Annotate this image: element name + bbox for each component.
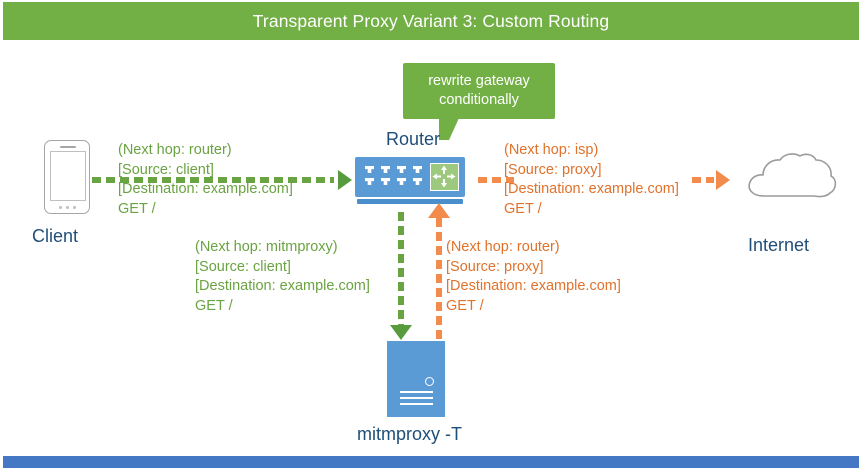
- callout-bubble: rewrite gateway conditionally: [403, 63, 555, 119]
- flow-arrowhead-router-to-internet: [716, 170, 730, 190]
- packet-line: GET /: [195, 297, 370, 317]
- node-label-mitmproxy: mitmproxy -T: [357, 424, 462, 445]
- callout-line-2: conditionally: [439, 91, 519, 110]
- footer-bar: [3, 456, 859, 468]
- flow-arrowhead-client-to-router: [338, 170, 352, 190]
- packet-line: [Source: client]: [118, 161, 293, 181]
- flow-line-router-to-proxy: [398, 212, 404, 325]
- mobile-phone-icon: [44, 140, 94, 218]
- diagram-canvas: Transparent Proxy Variant 3: Custom Rout…: [0, 0, 862, 473]
- packet-line: [Destination: example.com]: [446, 277, 621, 297]
- packet-router-to-proxy: (Next hop: mitmproxy) [Source: client] […: [195, 238, 370, 316]
- phone-body: [44, 140, 90, 214]
- callout-line-1: rewrite gateway: [428, 72, 530, 91]
- packet-line: (Next hop: mitmproxy): [195, 238, 370, 258]
- server-body: [387, 341, 445, 417]
- router-icon: [355, 157, 469, 209]
- packet-line: (Next hop: router): [446, 238, 621, 258]
- packet-line: GET /: [504, 200, 679, 220]
- phone-dots-icon: [59, 206, 77, 209]
- packet-line: [Source: proxy]: [446, 258, 621, 278]
- flow-arrowhead-proxy-to-router: [428, 203, 450, 218]
- packet-line: GET /: [446, 297, 621, 317]
- packet-line: [Source: proxy]: [504, 161, 679, 181]
- packet-line: (Next hop: router): [118, 141, 293, 161]
- router-ports-icon: [365, 166, 423, 188]
- server-slot-line: [400, 403, 433, 405]
- server-indicator-icon: [425, 377, 434, 386]
- packet-line: [Source: client]: [195, 258, 370, 278]
- packet-line: (Next hop: isp): [504, 141, 679, 161]
- phone-speaker-icon: [60, 146, 76, 148]
- packet-client-to-router: (Next hop: router) [Source: client] [Des…: [118, 141, 293, 219]
- packet-line: GET /: [118, 200, 293, 220]
- packet-line: [Destination: example.com]: [504, 180, 679, 200]
- phone-screen: [50, 151, 86, 201]
- node-label-router: Router: [386, 129, 440, 150]
- packet-line: [Destination: example.com]: [118, 180, 293, 200]
- flow-line-proxy-to-router: [436, 218, 442, 344]
- node-label-internet: Internet: [748, 235, 809, 256]
- cloud-icon: [742, 152, 838, 210]
- packet-proxy-to-router: (Next hop: router) [Source: proxy] [Dest…: [446, 238, 621, 316]
- header-bar: Transparent Proxy Variant 3: Custom Rout…: [3, 2, 859, 40]
- node-label-client: Client: [32, 226, 78, 247]
- server-icon: [387, 341, 449, 419]
- router-body: [355, 157, 465, 197]
- page-title: Transparent Proxy Variant 3: Custom Rout…: [3, 2, 859, 40]
- callout-text: rewrite gateway conditionally: [403, 63, 555, 119]
- router-routing-arrows-icon: [430, 163, 459, 191]
- callout-tail: [439, 118, 459, 140]
- packet-router-to-internet: (Next hop: isp) [Source: proxy] [Destina…: [504, 141, 679, 219]
- flow-line-router-to-internet-b: [692, 177, 714, 183]
- server-slot-line: [400, 391, 433, 393]
- flow-arrowhead-router-to-proxy: [390, 325, 412, 340]
- server-slot-line: [400, 397, 433, 399]
- packet-line: [Destination: example.com]: [195, 277, 370, 297]
